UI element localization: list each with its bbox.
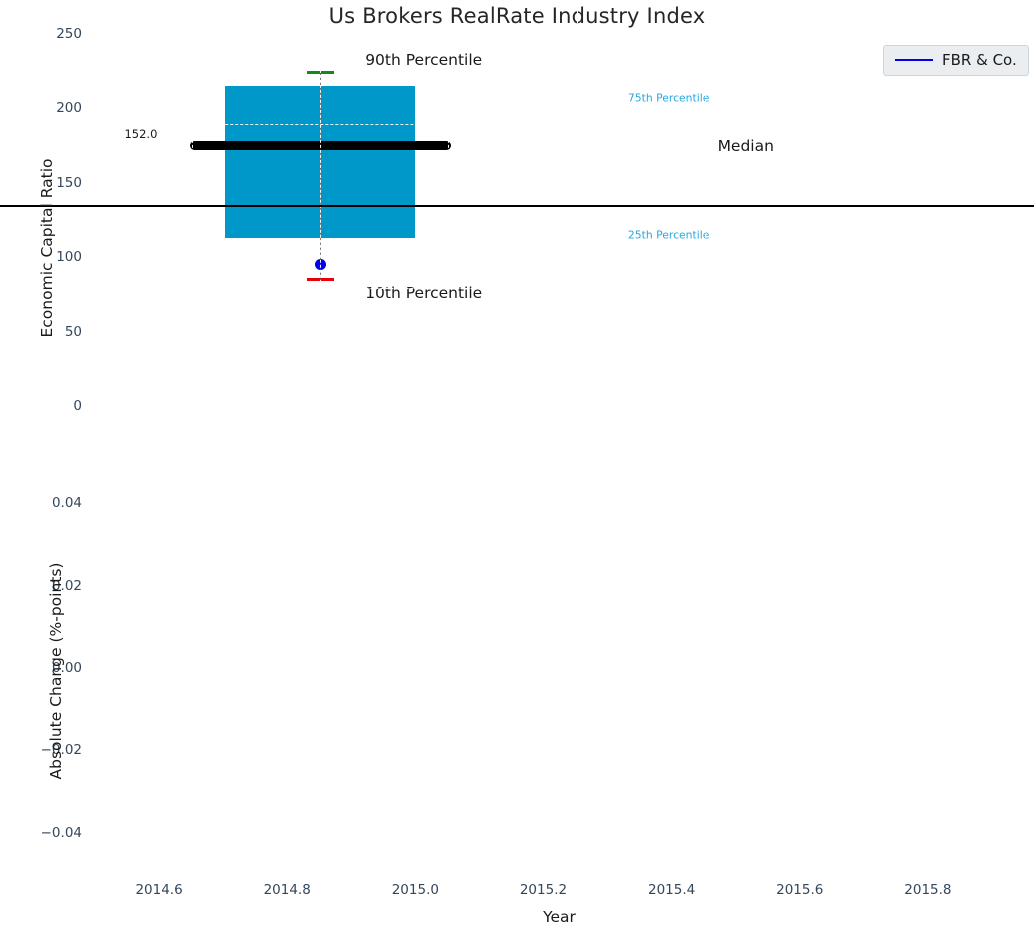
x-axis-tick-label: 2014.6 [135, 882, 182, 898]
gridline-horizontal [0, 0, 1034, 1]
gridline-horizontal [0, 41, 1034, 42]
gridline-vertical [320, 0, 321, 942]
gridline-horizontal [0, 74, 1034, 75]
x-axis-tick-label: 2015.6 [776, 882, 823, 898]
chart-figure: Us Brokers RealRate Industry Index 90th … [0, 0, 1034, 942]
annotation-10th-percentile: 10th Percentile [365, 284, 482, 302]
annotation-25th-percentile: 25th Percentile [628, 229, 710, 242]
gridline-vertical [577, 0, 578, 942]
annotation-90th-percentile: 90th Percentile [365, 51, 482, 69]
gridline-vertical [833, 0, 834, 942]
annotation-median: Median [718, 137, 774, 155]
y-axis-tick-label: 0.00 [0, 660, 82, 676]
axes-economic-capital-ratio: 90th Percentile 75th Percentile Median 2… [0, 0, 929, 424]
gridline-horizontal [0, 371, 1034, 372]
x-axis-tick-label: 2015.2 [520, 882, 567, 898]
legend-label: FBR & Co. [942, 51, 1017, 69]
x-axis-tick-label: 2015.8 [904, 882, 951, 898]
y-axis-label-bottom: Absolute Change (%-points) [47, 511, 65, 831]
y-axis-tick-label: 0.02 [0, 578, 82, 594]
x-axis-label: Year [95, 908, 1024, 926]
median-value-label: 152.0 [124, 127, 157, 141]
y-axis-tick-label: −0.04 [0, 825, 82, 841]
gridline-horizontal [0, 124, 1034, 125]
gridline-vertical [192, 0, 193, 942]
gridline-horizontal [0, 288, 1034, 289]
y-axis-tick-label: 0 [0, 398, 82, 414]
annotation-75th-percentile: 75th Percentile [628, 92, 710, 105]
legend[interactable]: FBR & Co. [883, 45, 1029, 76]
gridline-vertical [705, 0, 706, 942]
axes-absolute-change [0, 424, 929, 836]
gridline-horizontal [0, 149, 1034, 150]
page-title: Us Brokers RealRate Industry Index [0, 4, 1034, 28]
gridline-vertical [448, 0, 449, 942]
y-axis-tick-label: −0.02 [0, 742, 82, 758]
gridline-horizontal [0, 372, 1034, 373]
legend-line-swatch-icon [895, 59, 933, 62]
gridline-horizontal [0, 298, 1034, 299]
gridline-horizontal [0, 223, 1034, 224]
y-axis-tick-label: 250 [0, 26, 82, 42]
x-axis-tick-label: 2014.8 [264, 882, 311, 898]
x-axis-tick-label: 2015.4 [648, 882, 695, 898]
zero-reference-line [0, 205, 1034, 207]
x-axis-tick-label: 2015.0 [392, 882, 439, 898]
y-axis-tick-label: 0.04 [0, 495, 82, 511]
y-axis-label-top: Economic Capital Ratio [38, 98, 56, 398]
